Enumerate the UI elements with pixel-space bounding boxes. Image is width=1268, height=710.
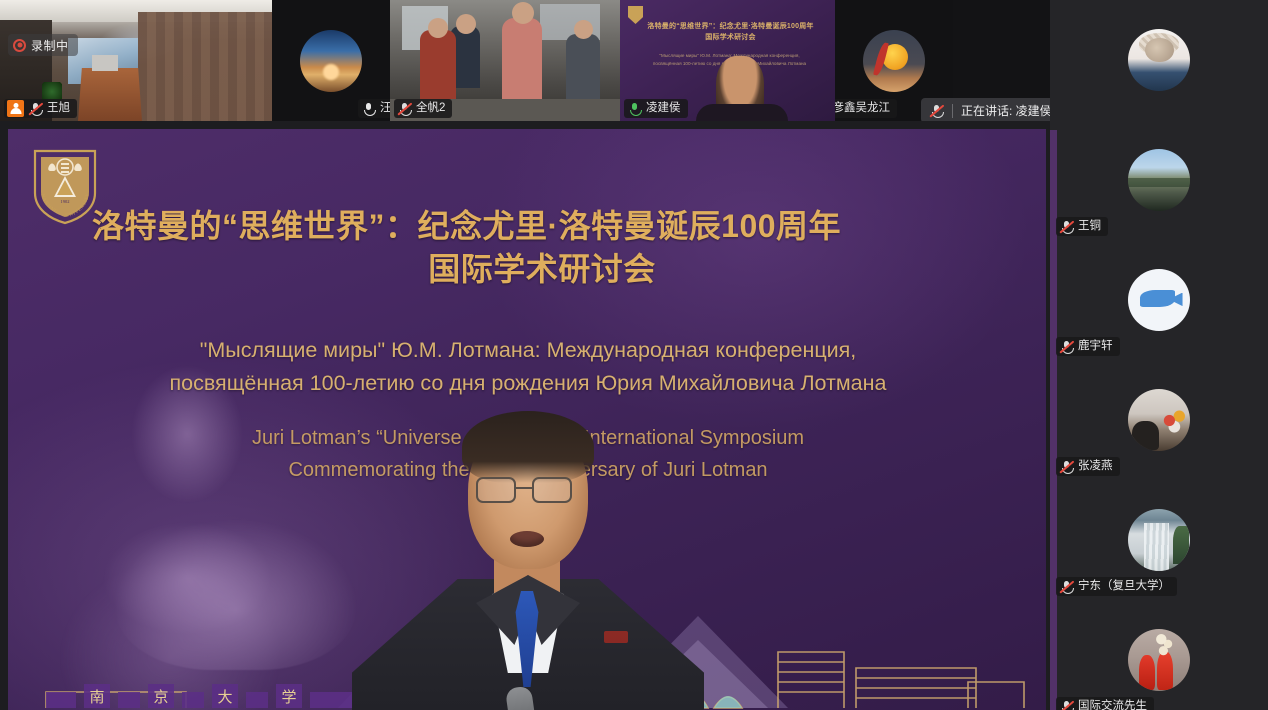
person-head — [512, 2, 534, 24]
slide-subtitle-russian: "Мыслящие миры" Ю.М. Лотмана: Международ… — [78, 334, 978, 399]
name-chip-participant-3: 凌建侯 — [624, 99, 688, 118]
svg-text:学: 学 — [281, 688, 296, 706]
name-chip-participant-1: 汪磊 — [358, 99, 390, 118]
participant-name: 胡彦鑫吴龙江 — [835, 99, 890, 118]
participant-name: 王旭 — [47, 99, 70, 118]
mic-muted-icon — [1059, 699, 1074, 710]
avatar-flowers — [1155, 633, 1176, 659]
svg-text:1902: 1902 — [61, 199, 70, 204]
speaker-glasses-bridge — [516, 487, 532, 489]
avatar — [1128, 149, 1190, 211]
video-tile-conference-room[interactable]: 录制中 王旭 — [0, 0, 272, 121]
name-chip-participant-2: 全帆2 — [394, 99, 452, 118]
avatar — [1128, 29, 1190, 91]
avatar — [863, 30, 925, 92]
recording-label: 录制中 — [31, 37, 69, 54]
avatar — [1128, 389, 1190, 451]
record-icon — [13, 39, 26, 52]
svg-text:大: 大 — [217, 688, 232, 706]
video-tile-avatar-sunset[interactable]: 汪磊 — [272, 0, 390, 121]
speaker-lapel-badge — [604, 631, 628, 643]
slide-title-line-2: 国际学术研讨会 — [92, 248, 992, 291]
participant-name: 全帆2 — [416, 99, 445, 118]
participant-rail[interactable]: 王铜 鹿宇轩 张凌燕 宁东（复旦大学） — [1050, 0, 1268, 710]
speaker-hair — [462, 411, 594, 483]
mic-muted-icon — [929, 103, 944, 118]
rail-participant-5[interactable]: 国际交流先生 — [1050, 600, 1268, 710]
room-wood-panel — [138, 12, 272, 121]
video-tile-meeting-room[interactable]: 全帆2 — [390, 0, 620, 121]
slide-ru-line-1: "Мыслящие миры" Ю.М. Лотмана: Международ… — [78, 334, 978, 367]
person-silhouette — [502, 18, 542, 102]
name-chip-participant-0: 王旭 — [4, 99, 77, 118]
name-chip: 鹿宇轩 — [1056, 337, 1120, 356]
participant-filmstrip[interactable]: 录制中 王旭 汪磊 — [0, 0, 1050, 121]
rail-participant-0[interactable] — [1050, 0, 1268, 120]
avatar — [1128, 509, 1190, 571]
divider — [952, 104, 953, 118]
rail-participant-2[interactable]: 鹿宇轩 — [1050, 240, 1268, 360]
rail-participant-3[interactable]: 张凌燕 — [1050, 360, 1268, 480]
person-head — [574, 20, 593, 39]
person-silhouette — [420, 30, 456, 100]
mic-muted-icon — [1059, 339, 1074, 354]
svg-text:京: 京 — [153, 688, 168, 706]
presentation-slide: 1902 NANJING UNIVERSITY 洛特曼的“思维世界”：纪念尤里·… — [8, 129, 1046, 710]
name-chip-participant-4: 胡彦鑫吴龙江 — [835, 99, 897, 118]
participant-name: 王铜 — [1078, 217, 1101, 236]
mic-on-icon — [627, 101, 642, 116]
participant-name: 国际交流先生 — [1078, 697, 1147, 710]
speaker-glasses-right — [532, 477, 572, 503]
mic-muted-icon — [1059, 459, 1074, 474]
participant-name: 鹿宇轩 — [1078, 337, 1113, 356]
avatar — [1128, 269, 1190, 331]
host-icon — [7, 100, 24, 117]
video-conference-window: 录制中 王旭 汪磊 — [0, 0, 1268, 710]
mic-on-icon — [361, 101, 376, 116]
name-chip: 张凌燕 — [1056, 457, 1120, 476]
avatar — [1128, 629, 1190, 691]
shared-screen-stage: 1902 NANJING UNIVERSITY 洛特曼的“思维世界”：纪念尤里·… — [0, 121, 1050, 710]
participant-name: 宁东（复旦大学） — [1078, 577, 1170, 596]
preview-speaker-body — [696, 104, 788, 121]
name-chip: 王铜 — [1056, 217, 1108, 236]
slide-title: 洛特曼的“思维世界”：纪念尤里·洛特曼诞辰100周年 国际学术研讨会 — [92, 205, 992, 291]
avatar — [300, 30, 362, 92]
person-silhouette — [566, 34, 600, 100]
rail-participant-4[interactable]: 宁东（复旦大学） — [1050, 480, 1268, 600]
room-podium — [78, 68, 142, 121]
room-laptop — [92, 55, 118, 71]
name-chip: 国际交流先生 — [1056, 697, 1154, 710]
preview-title: 洛特曼的“思维世界”：纪念尤里·洛特曼诞辰100周年 国际学术研讨会 — [634, 22, 827, 44]
slide-title-line-1: 洛特曼的“思维世界”：纪念尤里·洛特曼诞辰100周年 — [92, 205, 992, 248]
speaker-glasses-left — [476, 477, 516, 503]
mic-muted-icon — [28, 101, 43, 116]
rail-participant-1[interactable]: 王铜 — [1050, 120, 1268, 240]
person-head — [428, 18, 448, 38]
mic-muted-icon — [1059, 579, 1074, 594]
speaker-video-overlay — [326, 419, 730, 710]
participant-name: 凌建侯 — [646, 99, 681, 118]
video-tile-slide-preview[interactable]: 洛特曼的“思维世界”：纪念尤里·洛特曼诞辰100周年 国际学术研讨会 "Мысл… — [620, 0, 835, 121]
recording-indicator: 录制中 — [8, 34, 78, 56]
mic-muted-icon — [1059, 219, 1074, 234]
speaker-mouth — [510, 531, 544, 547]
nanjing-university-shield-icon: 1902 NANJING UNIVERSITY — [32, 147, 98, 225]
name-chip: 宁东（复旦大学） — [1056, 577, 1177, 596]
participant-name: 汪磊 — [380, 99, 390, 118]
slide-ru-line-2: посвящённая 100-летию со дня рождения Юр… — [78, 367, 978, 400]
mic-muted-icon — [397, 101, 412, 116]
participant-name: 张凌燕 — [1078, 457, 1113, 476]
svg-text:南: 南 — [89, 688, 104, 706]
person-head — [456, 14, 476, 34]
